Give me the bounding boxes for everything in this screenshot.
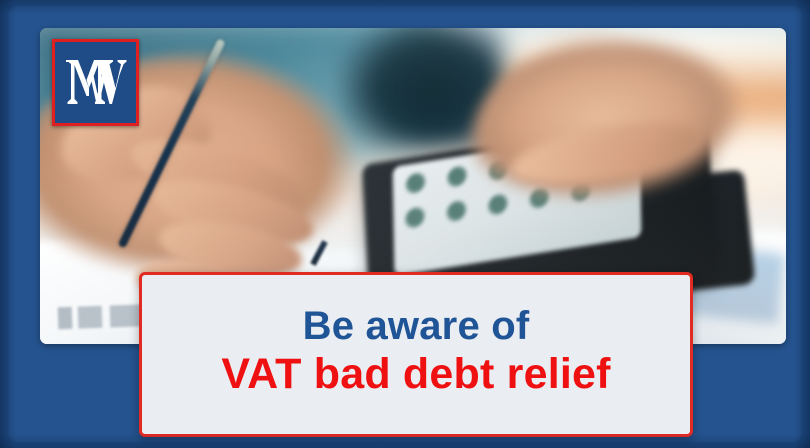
banner-board: Be aware of VAT bad debt relief (8, 6, 802, 442)
mw-monogram-icon (65, 55, 127, 111)
headline-line-1: Be aware of (303, 305, 530, 347)
headline-panel: Be aware of VAT bad debt relief (139, 272, 693, 437)
vat-bad-debt-relief-banner: Be aware of VAT bad debt relief (0, 0, 810, 448)
mw-logo-badge (52, 39, 139, 126)
headline-line-2: VAT bad debt relief (221, 351, 610, 397)
